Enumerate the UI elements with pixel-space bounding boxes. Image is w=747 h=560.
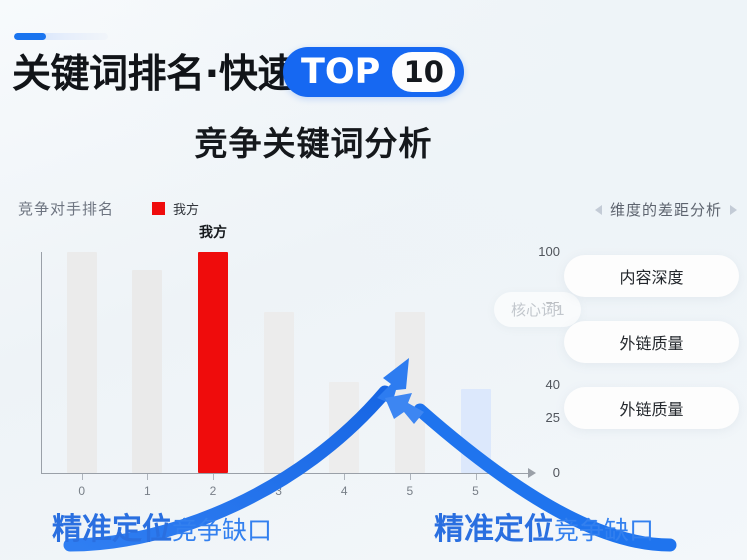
bar: [395, 312, 425, 473]
bar: [329, 382, 359, 473]
chart-header: 竞争对手排名 我方: [18, 198, 199, 219]
x-axis-tick: 5: [472, 484, 479, 498]
caption-left-soft: 竞争缺口: [172, 511, 272, 547]
dimension-header: 维度的差距分析: [595, 199, 737, 220]
x-axis-tickmark: [147, 474, 148, 480]
bar: [132, 270, 162, 473]
x-axis-tick: 0: [78, 484, 85, 498]
dimension-pill[interactable]: 外链质量: [564, 387, 739, 429]
top-badge-number: 10: [392, 52, 455, 92]
caption-right-strong: 精准定位: [434, 504, 554, 548]
y-axis-tick: 0: [526, 465, 560, 480]
y-axis-tick: 25: [526, 410, 560, 425]
caption-left: 精准定位 竞争缺口: [52, 504, 272, 548]
y-axis-tick: 40: [526, 377, 560, 392]
x-axis-tickmark: [82, 474, 83, 480]
dimension-pill[interactable]: 内容深度: [564, 255, 739, 297]
x-axis-tickmark: [410, 474, 411, 480]
legend-swatch-icon: [152, 202, 165, 215]
x-axis-tickmark: [213, 474, 214, 480]
bar-highlighted: [198, 252, 228, 473]
caption-right-soft: 竞争缺口: [554, 511, 654, 547]
x-axis-tick: 3: [275, 484, 282, 498]
bar-chart: 1007540250 我方 0123455: [0, 232, 560, 482]
top-rank-badge: TOP 10: [283, 47, 464, 97]
x-axis-tick: 4: [341, 484, 348, 498]
page-title-text: 关键词排名·快速: [12, 55, 296, 94]
dimension-pill[interactable]: 外链质量: [564, 321, 739, 363]
chart-axis-title: 竞争对手排名: [18, 198, 114, 219]
dimension-title: 维度的差距分析: [610, 199, 722, 220]
dimension-pill-list: 内容深度外链质量外链质量: [564, 255, 739, 453]
top-badge-word: TOP: [301, 55, 380, 90]
bar: [461, 389, 491, 473]
x-axis-tickmark: [476, 474, 477, 480]
y-axis-tick: 100: [526, 244, 560, 259]
x-axis-tick: 1: [144, 484, 151, 498]
caption-right: 精准定位 竞争缺口: [434, 504, 654, 548]
progress-bar: [14, 33, 108, 40]
triangle-left-icon[interactable]: [595, 205, 602, 215]
x-axis-tick: 2: [210, 484, 217, 498]
bar: [264, 312, 294, 473]
bar-highlight-label: 我方: [199, 222, 227, 242]
x-axis-tickmark: [344, 474, 345, 480]
y-axis-line: [41, 252, 42, 474]
bar: [67, 252, 97, 473]
x-axis-tickmark: [279, 474, 280, 480]
chart-legend: 我方: [152, 199, 199, 218]
x-axis-line: [41, 473, 530, 474]
page-title: 关键词排名·快速: [12, 46, 296, 102]
caption-left-strong: 精准定位: [52, 504, 172, 548]
legend-label: 我方: [173, 199, 199, 218]
page-subtitle: 竞争关键词分析: [0, 117, 747, 165]
x-axis-tick: 5: [407, 484, 414, 498]
progress-bar-fill: [14, 33, 46, 40]
triangle-right-icon[interactable]: [730, 205, 737, 215]
